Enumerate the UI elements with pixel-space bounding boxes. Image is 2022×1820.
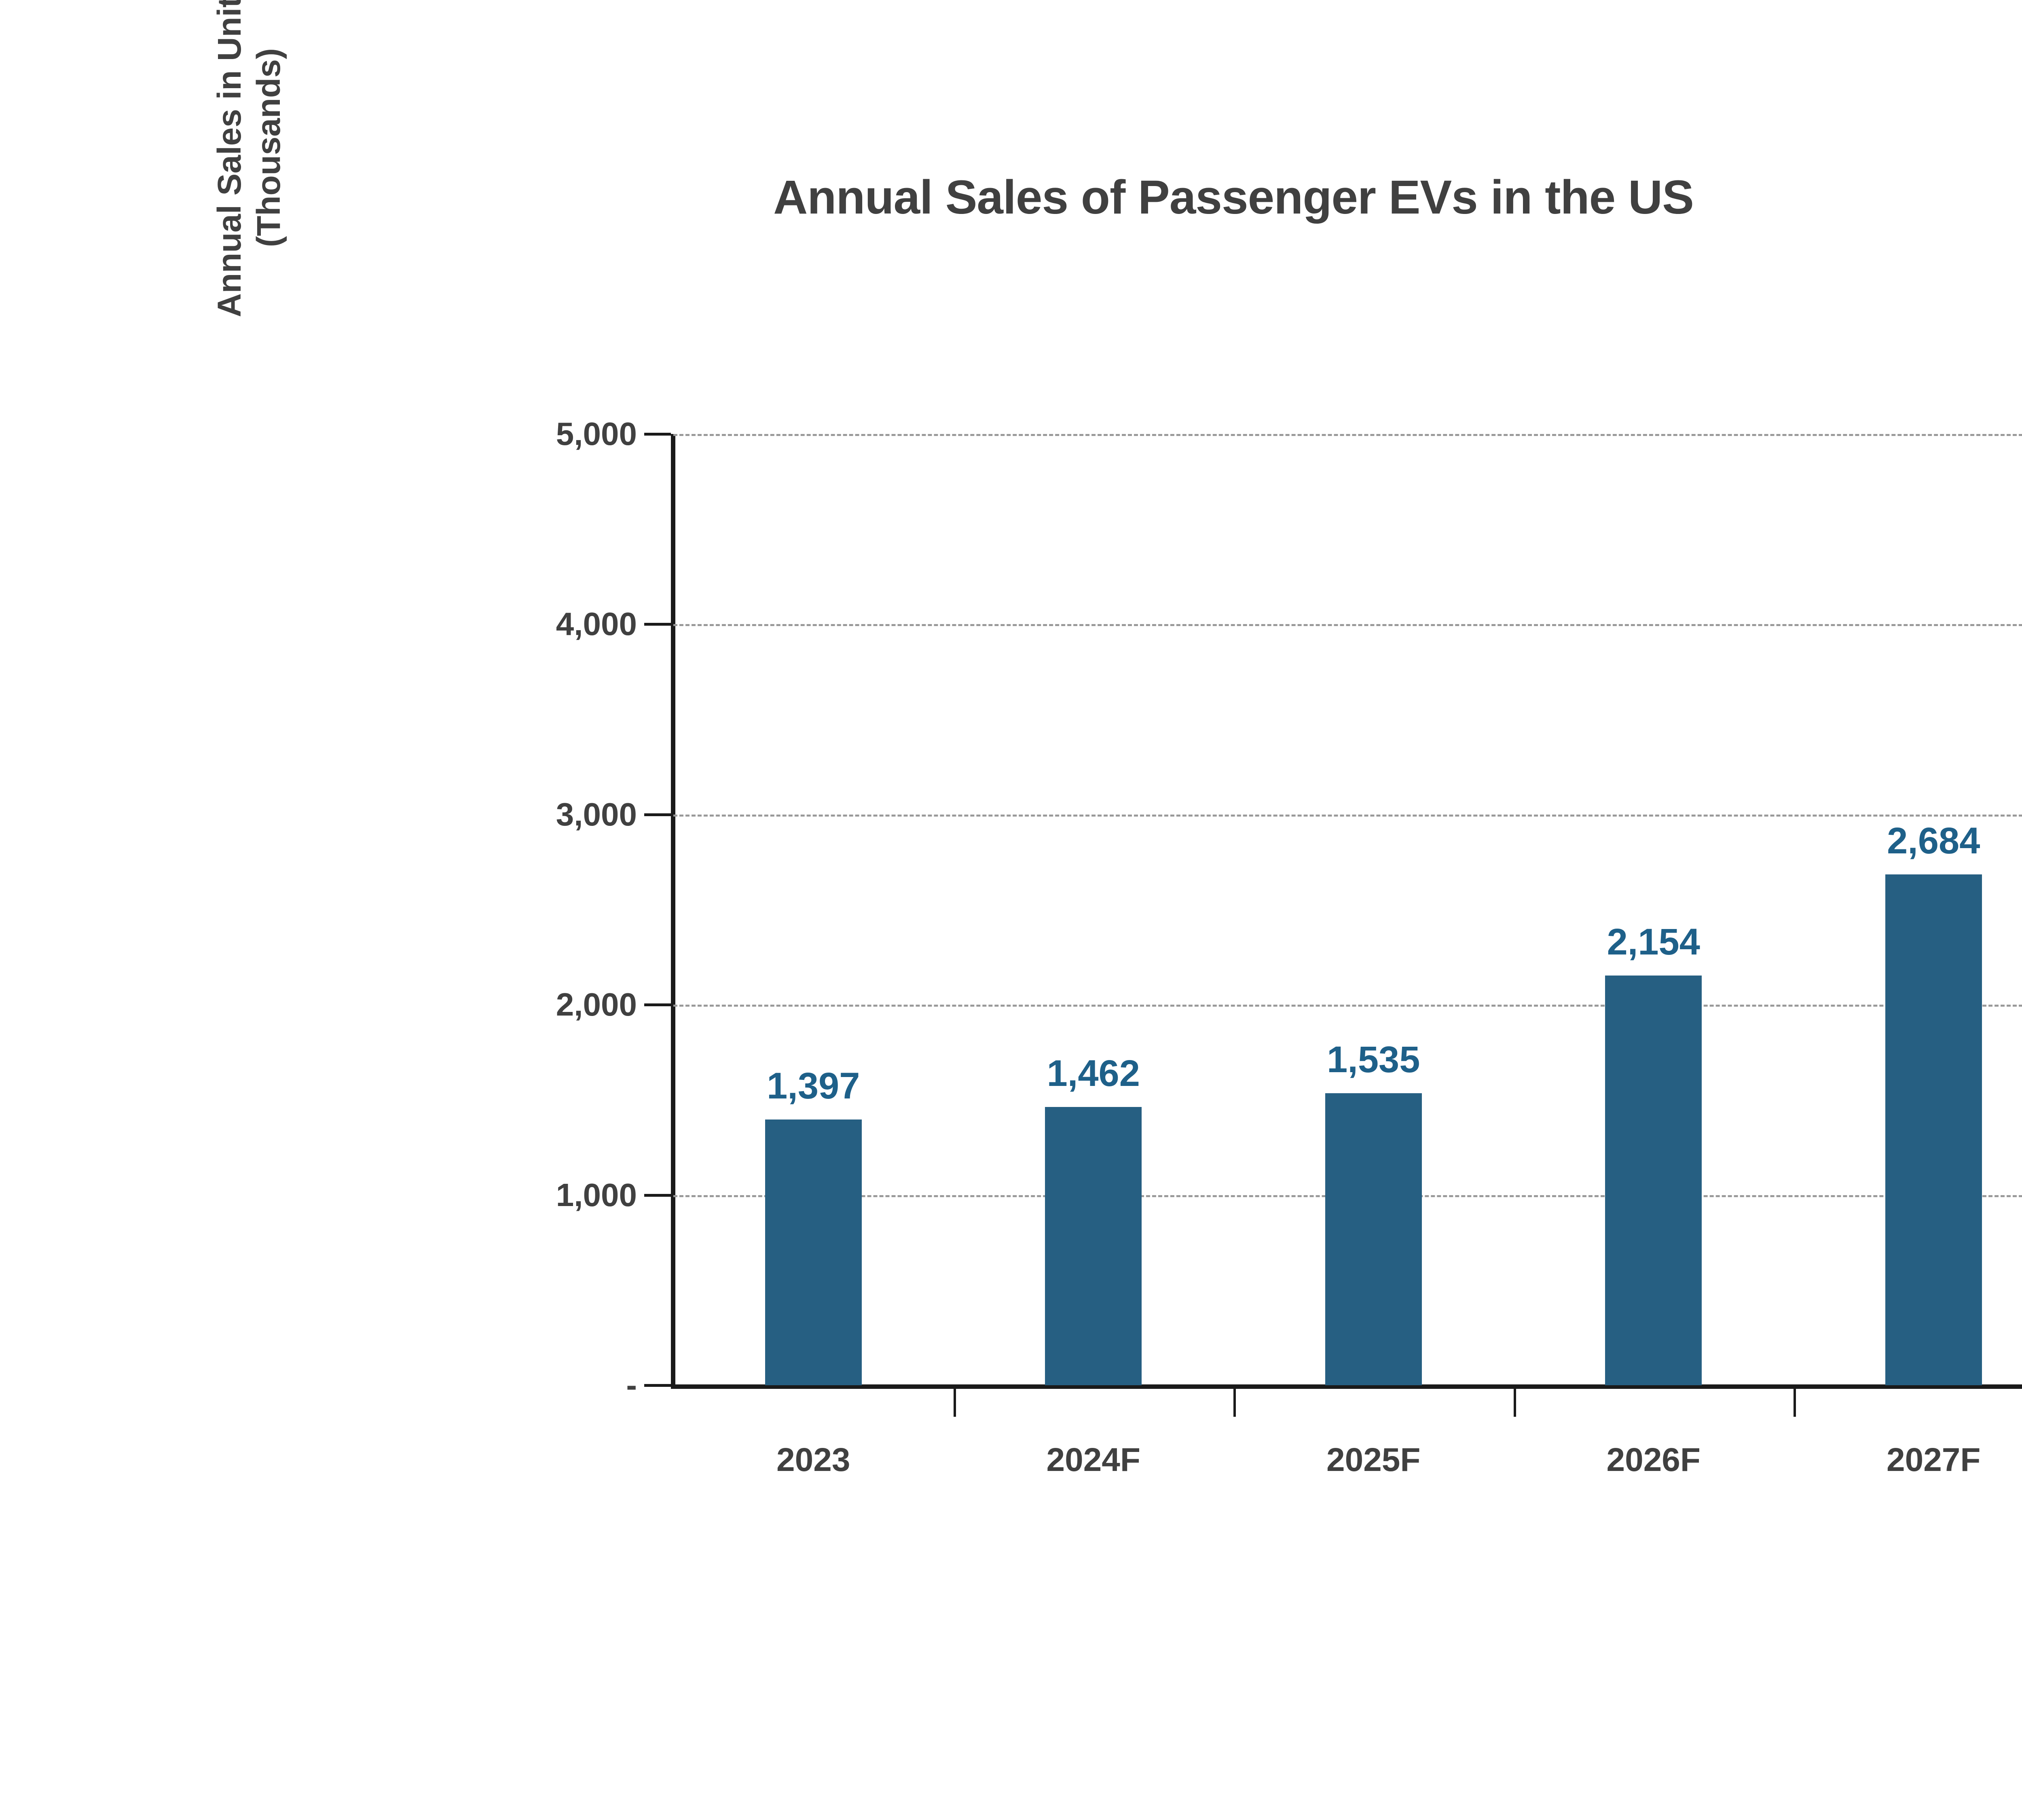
- y-axis-tick-label: 4,000: [556, 605, 637, 643]
- x-axis-category-label: 2025F: [1326, 1441, 1421, 1479]
- gridline: [673, 434, 2022, 436]
- chart-title: Annual Sales of Passenger EVs in the US: [0, 170, 2022, 225]
- y-axis-tick-label: 1,000: [556, 1177, 637, 1214]
- x-axis-tick: [1514, 1385, 1516, 1417]
- y-axis-title: Annual Sales in Units (Thousands): [210, 0, 311, 522]
- y-axis-tick: [644, 1384, 671, 1387]
- bar-2025F[interactable]: [1325, 1093, 1422, 1385]
- y-axis-tick-label: 2,000: [556, 986, 637, 1023]
- chart-canvas: Annual Sales of Passenger EVs in the US …: [0, 0, 2022, 1820]
- bar-2024F[interactable]: [1045, 1107, 1142, 1385]
- y-axis-line: [671, 434, 675, 1385]
- bar-value-label: 2,154: [1607, 921, 1700, 963]
- bar-value-label: 2,684: [1887, 820, 1980, 862]
- y-axis-title-line-1: Annual Sales in Units: [210, 0, 250, 317]
- bar-2023[interactable]: [765, 1120, 862, 1385]
- plot-area: -1,0002,0003,0004,0005,000 1,3971,4621,5…: [673, 434, 2022, 1385]
- y-axis-tick-label: 3,000: [556, 796, 637, 833]
- y-axis-tick: [644, 1003, 671, 1006]
- gridline: [673, 624, 2022, 626]
- x-axis-category-label: 2027F: [1887, 1441, 1981, 1479]
- y-axis-tick: [644, 813, 671, 816]
- x-axis-category-label: 2026F: [1606, 1441, 1701, 1479]
- x-axis-tick: [1794, 1385, 1796, 1417]
- y-axis-tick: [644, 1194, 671, 1197]
- gridline: [673, 1005, 2022, 1007]
- bar-2026F[interactable]: [1605, 976, 1702, 1385]
- y-axis-tick: [644, 433, 671, 436]
- y-axis-tick-label: -: [626, 1367, 637, 1404]
- bar-2027F[interactable]: [1885, 874, 1982, 1385]
- y-axis-tick-label: 5,000: [556, 415, 637, 453]
- gridline: [673, 815, 2022, 817]
- bar-value-label: 1,462: [1047, 1052, 1140, 1095]
- x-axis-category-label: 2023: [776, 1441, 850, 1479]
- y-axis-tick: [644, 623, 671, 626]
- x-axis-tick: [954, 1385, 956, 1417]
- x-axis-tick: [1233, 1385, 1236, 1417]
- bar-value-label: 1,535: [1327, 1039, 1420, 1081]
- bar-value-label: 1,397: [767, 1065, 860, 1107]
- x-axis-category-label: 2024F: [1046, 1441, 1140, 1479]
